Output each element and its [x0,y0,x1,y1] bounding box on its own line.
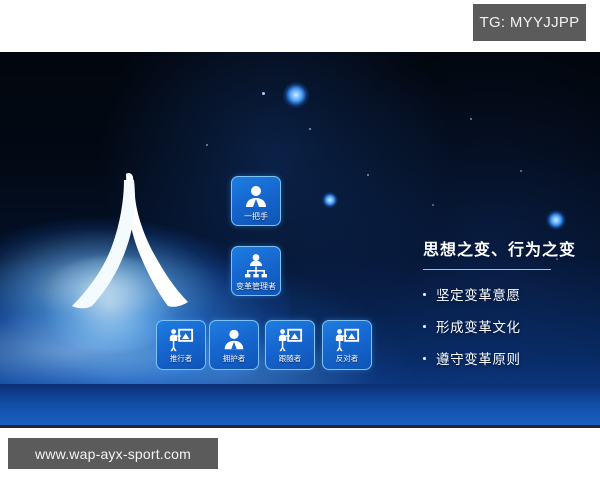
bullet-text: 形成变革文化 [436,316,521,336]
telegram-watermark-badge: TG: MYYJJPP [473,4,586,41]
bullet-dot-icon [423,357,426,360]
light-orb [546,210,566,230]
role-tile-label: 一把手 [244,212,268,221]
particle-dot [309,128,311,130]
particle-dot [262,92,265,95]
role-tile-follower[interactable]: 跟随者 [265,320,315,370]
person-bust-icon [221,326,247,352]
slide-image: 一把手 变革管理者 [0,52,600,428]
screenshot-page: 一把手 变革管理者 [0,0,600,480]
particle-dot [520,170,522,172]
light-orb [283,82,309,108]
person-presenting-icon [168,326,194,352]
bullet-item: 坚定变革意愿 [423,284,591,304]
role-tile-supporter[interactable]: 拥护者 [209,320,259,370]
person-bust-icon [242,182,270,210]
bullet-dot-icon [423,325,426,328]
role-tile-manager[interactable]: 变革管理者 [231,246,281,296]
bullet-dot-icon [423,293,426,296]
bullet-item: 遵守变革原则 [423,348,591,368]
panel-heading: 思想之变、行为之变 [423,236,591,260]
role-tile-label: 跟随者 [279,354,302,363]
particle-dot [470,118,472,120]
bullet-text: 坚定变革意愿 [436,284,521,304]
role-tile-label: 变革管理者 [236,282,276,291]
bullet-item: 形成变革文化 [423,316,591,336]
site-url-watermark-badge: www.wap-ayx-sport.com [8,438,218,469]
role-tile-promoter[interactable]: 推行者 [156,320,206,370]
person-presenting-icon [277,326,303,352]
heading-divider [423,269,551,270]
bullet-text: 遵守变革原则 [436,348,521,368]
bullet-list: 坚定变革意愿 形成变革文化 遵守变革原则 坚决落地执行 [423,284,591,400]
particle-dot [432,204,434,206]
role-tile-label: 反对者 [336,354,359,363]
role-tile-label: 推行者 [170,354,193,363]
particle-dot [206,144,208,146]
role-tile-label: 拥护者 [223,354,246,363]
chinese-character-ren [62,170,194,312]
slide-bottom-band [0,384,600,428]
light-orb [322,192,338,208]
person-presenting-icon [334,326,360,352]
role-tile-opponent[interactable]: 反对者 [322,320,372,370]
slide-bottom-edge [0,425,600,428]
org-chart-person-icon [242,252,270,280]
role-tile-boss[interactable]: 一把手 [231,176,281,226]
particle-dot [367,174,369,176]
